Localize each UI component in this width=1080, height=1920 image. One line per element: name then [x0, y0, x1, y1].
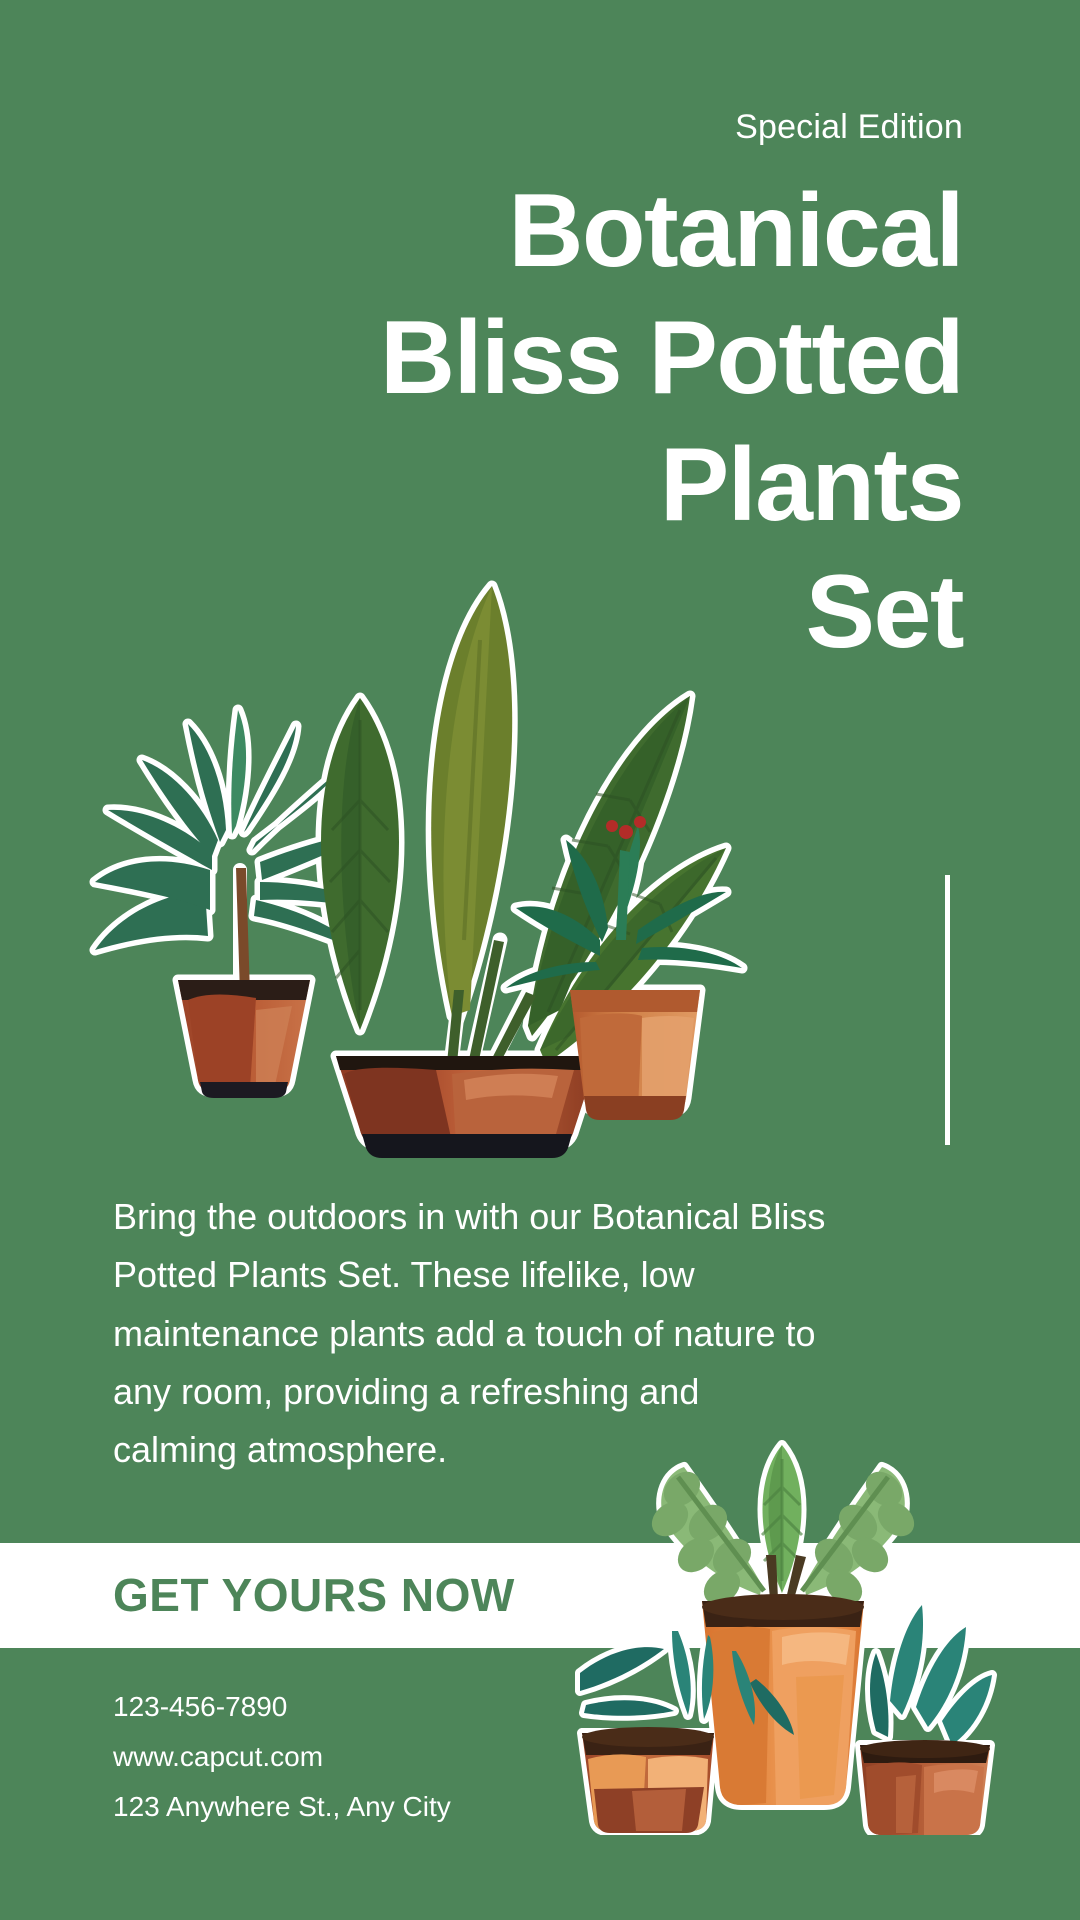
eyebrow-label: Special Edition — [263, 110, 963, 144]
vertical-rule-divider — [945, 875, 950, 1145]
three-potted-plants-illustration — [60, 470, 760, 1160]
headline-line-1: Botanical — [23, 168, 963, 295]
headline-line-2: Bliss Potted — [23, 295, 963, 422]
get-yours-now-button[interactable]: GET YOURS NOW — [113, 1568, 515, 1623]
three-small-potted-plants-illustration — [560, 1415, 1000, 1835]
poster-canvas: Special Edition Botanical Bliss Potted P… — [0, 0, 1080, 1920]
contact-phone[interactable]: 123-456-7890 — [113, 1682, 451, 1732]
contact-website[interactable]: www.capcut.com — [113, 1732, 451, 1782]
contact-address: 123 Anywhere St., Any City — [113, 1782, 451, 1832]
contact-block: 123-456-7890 www.capcut.com 123 Anywhere… — [113, 1682, 451, 1832]
